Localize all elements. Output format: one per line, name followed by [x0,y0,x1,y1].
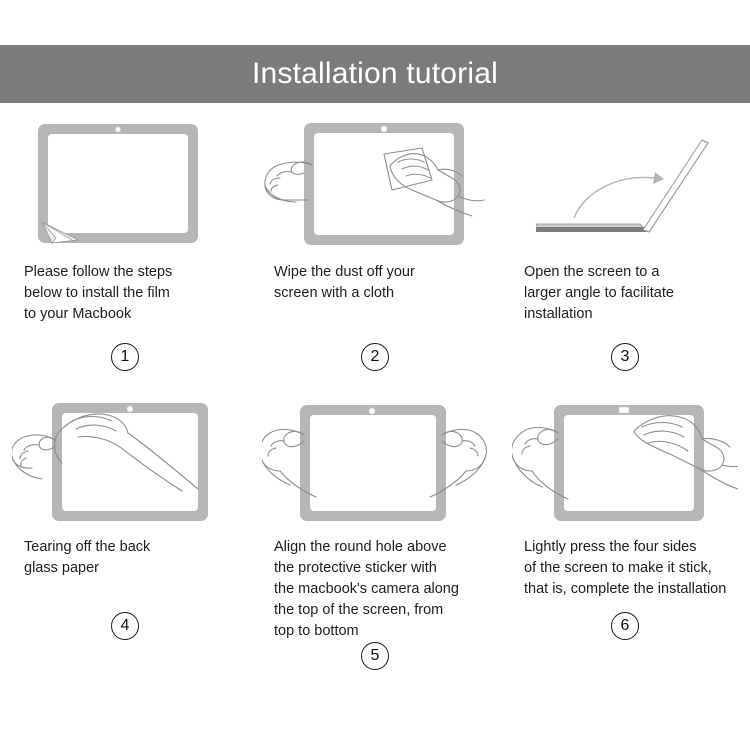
steps-grid: Please follow the steps below to install… [0,118,750,678]
caption-line: Please follow the steps [24,262,234,283]
step-badge-wrap-1: 1 [12,343,238,393]
caption-line: to your Macbook [24,304,234,325]
caption-line: Lightly press the four sides [524,537,734,558]
caption-line: Wipe the dust off your [274,262,484,283]
step-card-4: Tearing off the back glass paper 4 [0,393,250,678]
caption-line: below to install the film [24,283,234,304]
caption-line: the top of the screen, from [274,600,484,621]
illustration-macbook-screen-with-peeling-film-corner [12,118,238,250]
tutorial-page: Installation tutorial Please follow the … [0,0,750,750]
caption-line: the protective sticker with [274,558,484,579]
caption-line: Open the screen to a [524,262,734,283]
illustration-hands-peeling-back-glass-paper [12,393,238,525]
step-caption-2: Wipe the dust off your screen with a clo… [262,262,488,304]
step-card-6: Lightly press the four sides of the scre… [500,393,750,678]
step-card-5: Align the round hole above the protectiv… [250,393,500,678]
illustration-two-hands-aligning-film-on-screen [262,393,488,525]
illustration-laptop-side-view-opening-arrow [512,118,738,250]
step-card-1: Please follow the steps below to install… [0,118,250,393]
caption-line: Align the round hole above [274,537,484,558]
illustration-hands-wiping-screen-with-cloth [262,118,488,250]
step-number-badge: 4 [111,612,139,640]
caption-line: of the screen to make it stick, [524,558,734,579]
step-badge-wrap-2: 2 [262,343,488,393]
caption-line: glass paper [24,558,234,579]
step-card-2: Wipe the dust off your screen with a clo… [250,118,500,393]
caption-line: installation [524,304,734,325]
header-banner: Installation tutorial [0,45,750,103]
illustration-hands-pressing-four-sides-of-screen [512,393,738,525]
caption-line: that is, complete the installation [524,579,734,600]
step-number-badge: 5 [361,642,389,670]
step-caption-3: Open the screen to a larger angle to fac… [512,262,738,325]
step-number-badge: 2 [361,343,389,371]
step-badge-wrap-6: 6 [512,612,738,678]
step-badge-wrap-4: 4 [12,612,238,678]
step-number-badge: 6 [611,612,639,640]
step-card-3: Open the screen to a larger angle to fac… [500,118,750,393]
page-title: Installation tutorial [252,59,498,89]
step-number-badge: 1 [111,343,139,371]
step-badge-wrap-5: 5 [262,642,488,680]
step-caption-5: Align the round hole above the protectiv… [262,537,488,642]
caption-line: Tearing off the back [24,537,234,558]
step-caption-1: Please follow the steps below to install… [12,262,238,325]
caption-line: top to bottom [274,621,484,642]
step-caption-4: Tearing off the back glass paper [12,537,238,579]
step-number-badge: 3 [611,343,639,371]
caption-line: larger angle to facilitate [524,283,734,304]
step-badge-wrap-3: 3 [512,343,738,393]
caption-line: screen with a cloth [274,283,484,304]
step-caption-6: Lightly press the four sides of the scre… [512,537,738,600]
caption-line: the macbook's camera along [274,579,484,600]
